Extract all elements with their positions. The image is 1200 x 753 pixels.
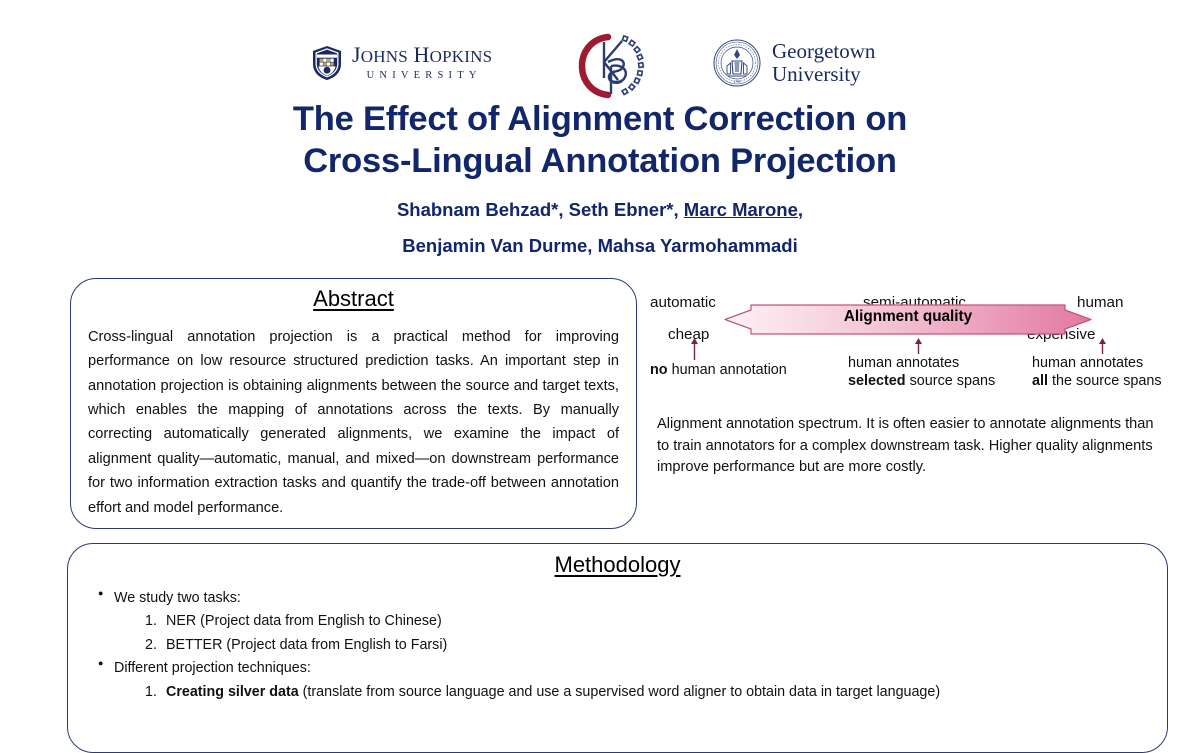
poster-title: The Effect of Alignment Correction on Cr… <box>0 98 1200 182</box>
methodology-bullet-techniques: Different projection techniques: Creatin… <box>98 657 1167 703</box>
clsp-logo <box>578 32 652 100</box>
spectrum-label-cheap: cheap <box>668 326 709 343</box>
double-headed-arrow-icon <box>723 303 1093 336</box>
spectrum-note-right-rest: the source spans <box>1048 373 1162 389</box>
jhu-subwordmark: UNIVERSITY <box>352 70 492 81</box>
list-item: BETTER (Project data from English to Far… <box>145 634 1167 656</box>
spectrum-note-middle-rest: source spans <box>906 373 996 389</box>
spectrum-note-left: no human annotation <box>650 362 787 379</box>
methodology-list: We study two tasks: NER (Project data fr… <box>68 587 1167 703</box>
spectrum-note-right: human annotates all the source spans <box>1032 354 1162 390</box>
abstract-body: Cross-lingual annotation projection is a… <box>88 325 619 520</box>
spectrum-label-automatic: automatic <box>650 294 716 311</box>
logo-bar: JOHNS HOPKINS UNIVERSITY <box>0 14 1200 86</box>
georgetown-wordmark-line1: Georgetown <box>772 40 875 63</box>
alignment-spectrum-figure: automatic cheap semi-automatic human exp… <box>650 292 1170 392</box>
georgetown-university-logo: 1789 Georgetown University <box>712 38 875 88</box>
list-item: NER (Project data from English to Chines… <box>145 610 1167 632</box>
author-line-2: Benjamin Van Durme, Mahsa Yarmohammadi <box>0 235 1200 257</box>
clsp-monogram-icon <box>578 32 652 100</box>
abstract-panel: Abstract Cross-lingual annotation projec… <box>70 278 637 529</box>
methodology-bullet-tasks-label: We study two tasks: <box>114 590 241 606</box>
spectrum-note-middle: human annotates selected source spans <box>848 354 995 390</box>
methodology-panel: Methodology We study two tasks: NER (Pro… <box>67 543 1168 753</box>
methodology-task-sublist: NER (Project data from English to Chines… <box>114 610 1167 656</box>
poster-title-line2: Cross-Lingual Annotation Projection <box>0 140 1200 182</box>
georgetown-wordmark-line2: University <box>772 63 875 86</box>
spectrum-note-right-line1: human annotates <box>1032 354 1162 372</box>
authors-trailing-comma: , <box>798 199 803 220</box>
author-line-1: Shabnam Behzad*, Seth Ebner*, Marc Maron… <box>0 199 1200 221</box>
spectrum-note-left-rest: human annotation <box>668 362 787 378</box>
methodology-bullet-techniques-label: Different projection techniques: <box>114 660 311 676</box>
johns-hopkins-university-logo: JOHNS HOPKINS UNIVERSITY <box>310 42 492 82</box>
spectrum-note-middle-emphasis: selected <box>848 373 906 389</box>
poster-title-line1: The Effect of Alignment Correction on <box>0 98 1200 140</box>
methodology-bullet-tasks: We study two tasks: NER (Project data fr… <box>98 587 1167 656</box>
technique-name: Creating silver data <box>166 684 299 700</box>
methodology-technique-sublist: Creating silver data (translate from sou… <box>114 681 1167 703</box>
technique-description: (translate from source language and use … <box>299 684 940 700</box>
methodology-heading: Methodology <box>68 552 1167 578</box>
spectrum-note-middle-line1: human annotates <box>848 354 995 372</box>
abstract-heading: Abstract <box>71 286 636 312</box>
list-item: Creating silver data (translate from sou… <box>145 681 1167 703</box>
spectrum-note-left-emphasis: no <box>650 362 668 378</box>
jhu-shield-icon <box>310 42 344 82</box>
spectrum-note-right-emphasis: all <box>1032 373 1048 389</box>
spectrum-tick-left-icon <box>690 338 699 365</box>
author-link-marc-marone[interactable]: Marc Marone <box>684 199 798 220</box>
georgetown-seal-icon: 1789 <box>712 38 762 88</box>
authors-first-part: Shabnam Behzad*, Seth Ebner*, <box>397 199 684 220</box>
jhu-wordmark: JOHNS HOPKINS <box>352 44 492 66</box>
svg-text:1789: 1789 <box>733 80 740 84</box>
figure-caption: Alignment annotation spectrum. It is oft… <box>657 414 1162 479</box>
